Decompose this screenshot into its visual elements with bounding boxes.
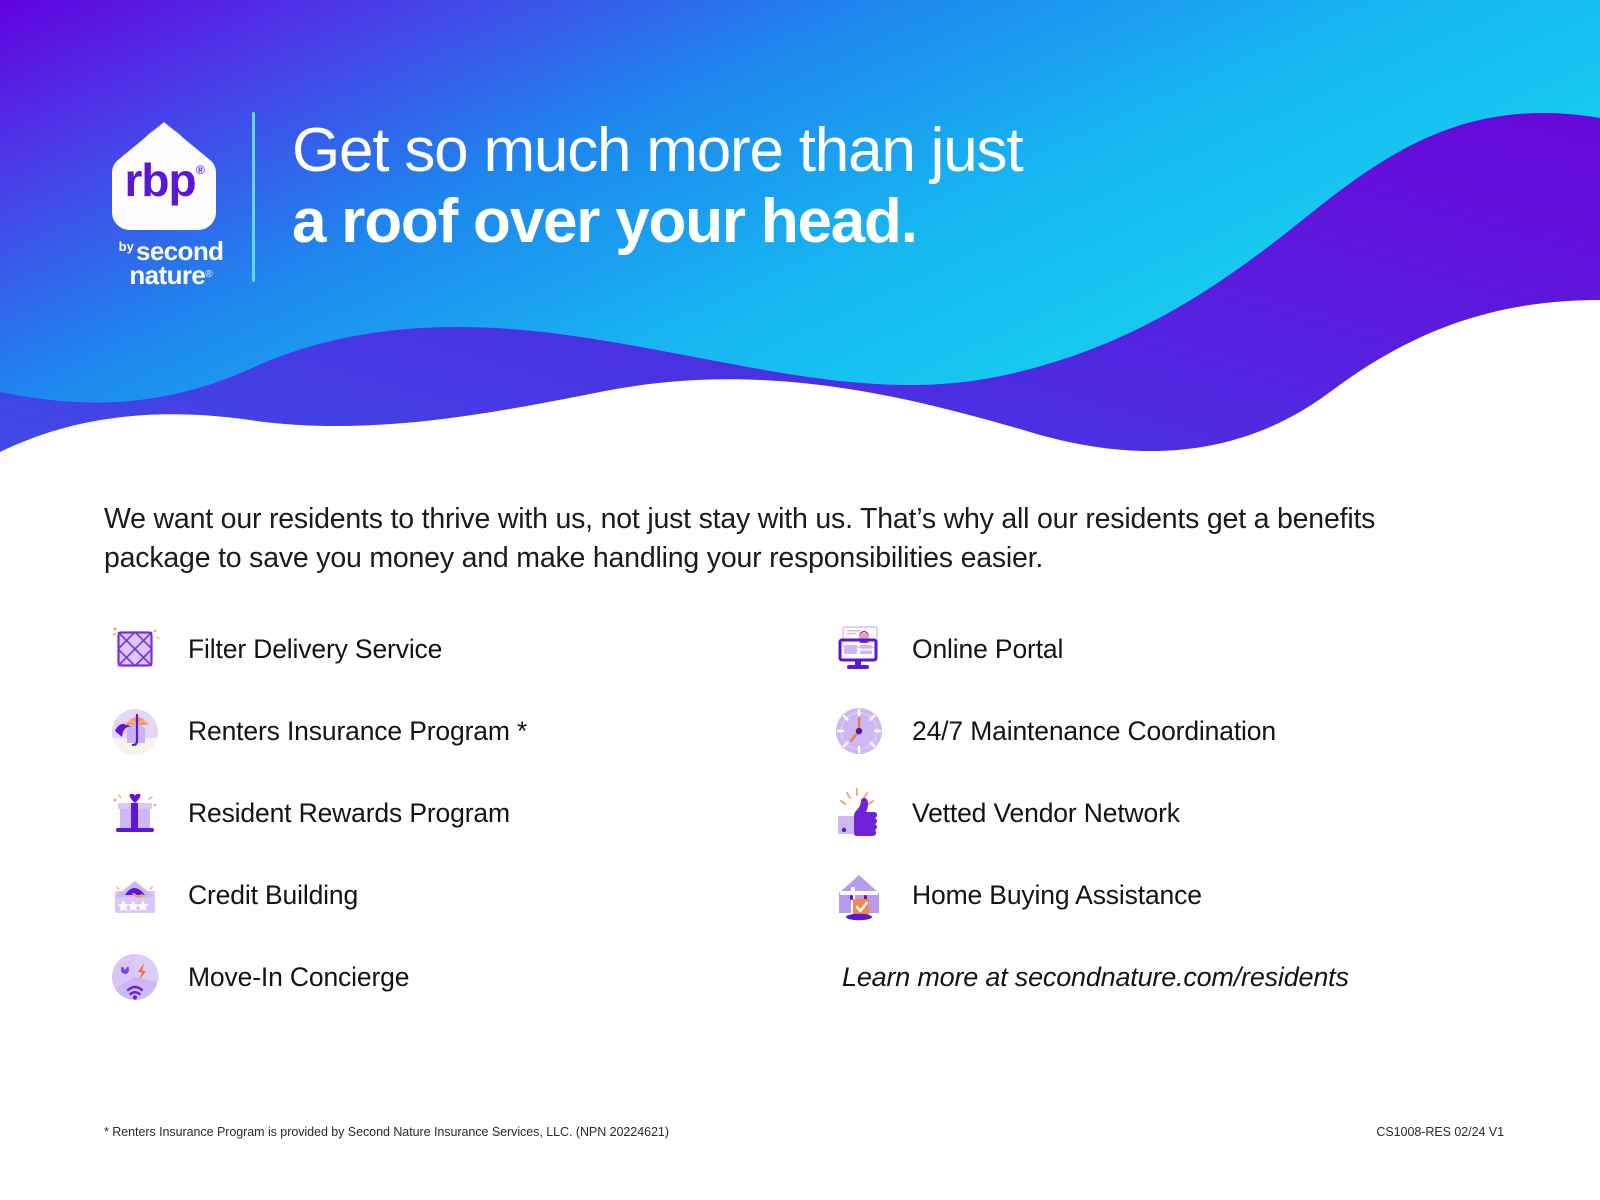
rbp-logo-byline: bysecond nature® [96,240,246,288]
benefit-label: Move-In Concierge [188,962,409,993]
logo-headline-divider [252,112,255,282]
hero-headline: Get so much more than just a roof over y… [292,116,1292,257]
benefit-label: 24/7 Maintenance Coordination [912,716,1276,747]
headline-line-1: Get so much more than just [292,116,1292,185]
learn-more-link[interactable]: Learn more at secondnature.com/residents [828,936,1528,1018]
benefits-left-column: Filter Delivery Service Renters Insuranc… [104,608,804,1018]
benefit-label: Credit Building [188,880,358,911]
byline-registered-mark: ® [205,269,212,280]
credit-badge-icon [104,864,166,926]
gift-icon [104,782,166,844]
benefit-label: Online Portal [912,634,1063,665]
list-item-move-in-concierge: Move-In Concierge [104,936,804,1018]
list-item-resident-rewards-program: Resident Rewards Program [104,772,804,854]
learn-more-text: Learn more at secondnature.com/residents [842,962,1349,993]
benefit-label: Vetted Vendor Network [912,798,1180,829]
hero-banner: rbp ® bysecond nature® Get so much more … [0,0,1600,480]
intro-paragraph: We want our residents to thrive with us,… [104,500,1444,579]
list-item-vetted-vendor-network: Vetted Vendor Network [828,772,1528,854]
list-item-online-portal: Online Portal [828,608,1528,690]
list-item-credit-building: Credit Building [104,854,804,936]
rbp-logo: rbp ® bysecond nature® [96,112,246,282]
footer-disclaimer: * Renters Insurance Program is provided … [104,1125,669,1139]
byline-prefix: by [119,241,134,253]
umbrella-house-icon [104,700,166,762]
footer-doc-code: CS1008-RES 02/24 V1 [1376,1125,1504,1139]
benefit-label: Resident Rewards Program [188,798,510,829]
house-check-icon [828,864,890,926]
monitor-icon [828,618,890,680]
rbp-logo-mark: rbp ® [98,112,230,244]
list-item-filter-delivery-service: Filter Delivery Service [104,608,804,690]
rbp-badge-icon: rbp ® [98,112,230,244]
thumbs-up-icon [828,782,890,844]
list-item-home-buying-assistance: Home Buying Assistance [828,854,1528,936]
list-item-renters-insurance-program: Renters Insurance Program * [104,690,804,772]
clock-icon [828,700,890,762]
utilities-icon [104,946,166,1008]
benefit-label: Renters Insurance Program * [188,716,527,747]
svg-text:®: ® [196,163,205,177]
headline-line-2: a roof over your head. [292,187,1292,256]
benefit-label: Home Buying Assistance [912,880,1202,911]
benefit-label: Filter Delivery Service [188,634,442,665]
svg-text:rbp: rbp [124,154,195,206]
filter-icon [104,618,166,680]
flyer-page: rbp ® bysecond nature® Get so much more … [0,0,1600,1200]
list-item-24-7-maintenance-coordination: 24/7 Maintenance Coordination [828,690,1528,772]
byline-name-line2: nature [129,260,205,290]
benefits-right-column: Online Portal [828,608,1528,1018]
